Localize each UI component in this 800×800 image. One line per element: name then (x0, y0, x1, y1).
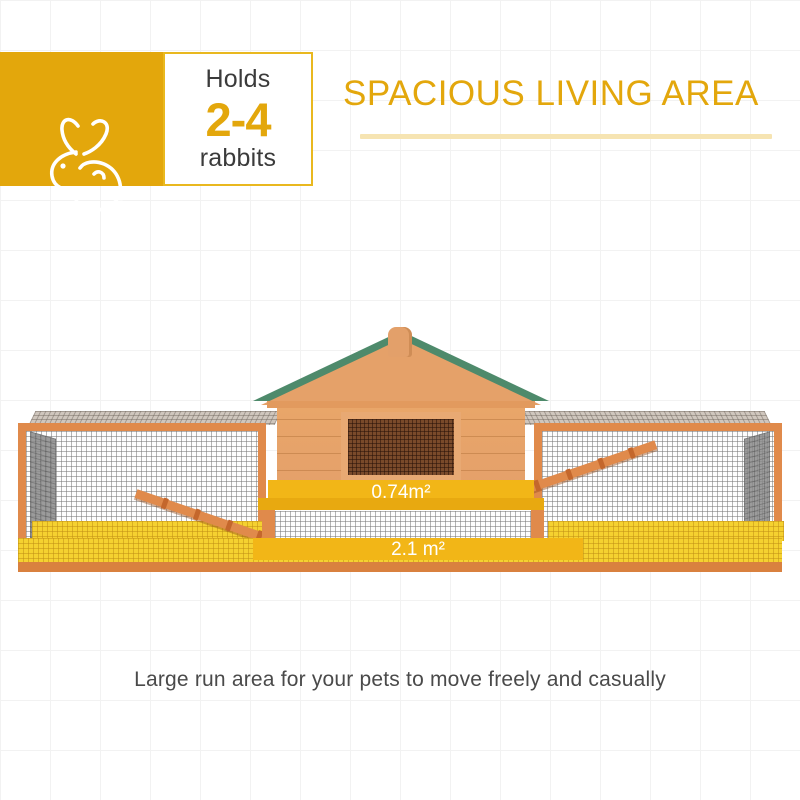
title-underline (360, 134, 772, 139)
title-block: SPACIOUS LIVING AREA (343, 76, 783, 111)
platform-area-label: 0.74m² (258, 480, 544, 504)
floor-base-rail (18, 561, 782, 572)
upper-platform: 0.74m² (258, 480, 544, 508)
capacity-value: 2-4 (206, 95, 271, 144)
left-run-cage (18, 411, 278, 556)
product-illustration: 0.74m² 2.1 m² (0, 325, 800, 590)
page-title: SPACIOUS LIVING AREA (343, 76, 783, 111)
house-door-mesh (348, 419, 454, 475)
right-run-cage (522, 411, 782, 556)
capacity-top-label: Holds (206, 67, 271, 92)
capacity-badge-text-panel: Holds 2-4 rabbits (163, 52, 313, 186)
house-eave (267, 401, 535, 408)
capacity-bottom-label: rabbits (200, 146, 276, 171)
house-door[interactable] (341, 412, 461, 482)
run-floor-center-wrap: 2.1 m² (18, 538, 782, 562)
floor-area-label: 2.1 m² (253, 538, 583, 560)
right-run-frame (534, 423, 782, 553)
rabbit-icon (38, 112, 130, 217)
left-run-frame (18, 423, 266, 553)
header-banner: Holds 2-4 rabbits SPACIOUS LIVING AREA (0, 52, 800, 186)
caption-text: Large run area for your pets to move fre… (0, 668, 800, 692)
capacity-badge-icon-panel (0, 52, 163, 186)
roof-finial (388, 327, 412, 357)
